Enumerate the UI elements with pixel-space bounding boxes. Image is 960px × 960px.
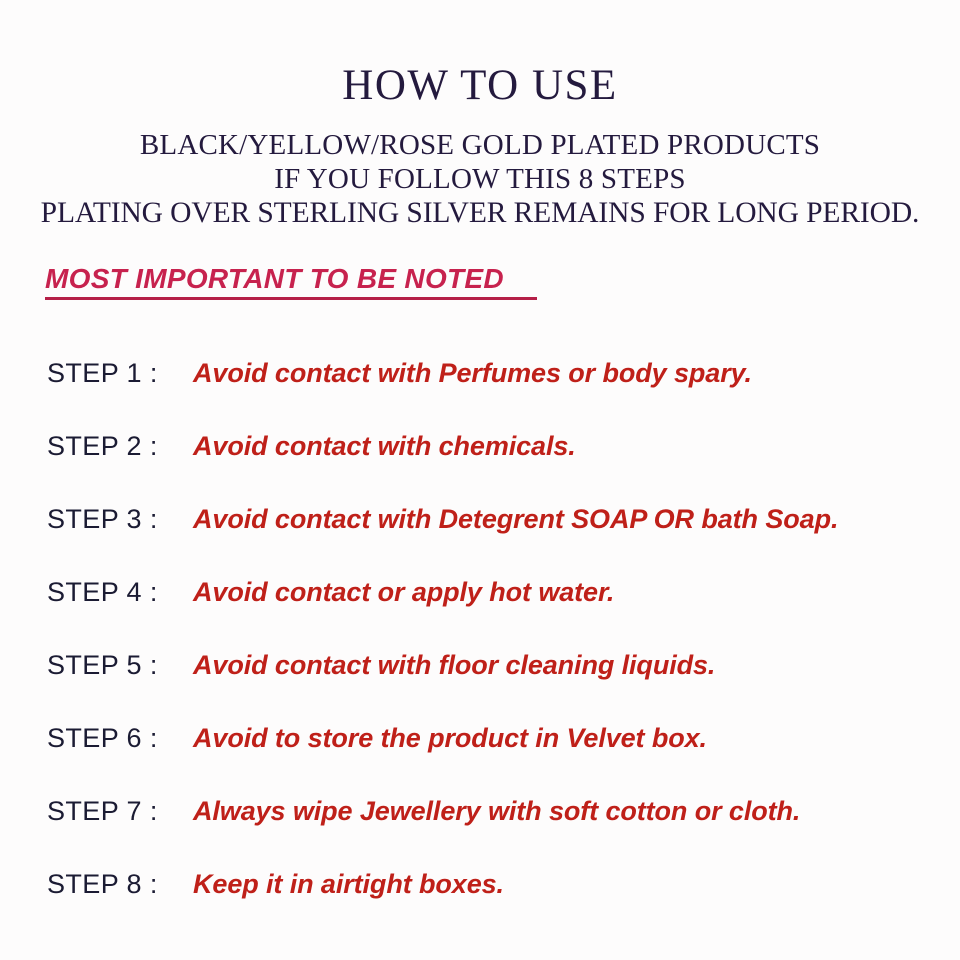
step-label: STEP 8 : — [47, 848, 158, 921]
step-text: Avoid contact with floor cleaning liquid… — [193, 629, 715, 702]
step-label: STEP 4 : — [47, 556, 158, 629]
page-title: HOW TO USE — [0, 62, 960, 110]
step-row: STEP 5 : Avoid contact with floor cleani… — [0, 629, 960, 702]
subtitle-line-3: PLATING OVER STERLING SILVER REMAINS FOR… — [0, 196, 960, 230]
step-text: Avoid contact with chemicals. — [193, 410, 576, 483]
notice-heading-underline — [45, 297, 537, 300]
step-row: STEP 8 : Keep it in airtight boxes. — [0, 848, 960, 921]
step-text: Always wipe Jewellery with soft cotton o… — [193, 775, 800, 848]
step-row: STEP 4 : Avoid contact or apply hot wate… — [0, 556, 960, 629]
steps-list: STEP 1 : Avoid contact with Perfumes or … — [0, 337, 960, 921]
instruction-poster: HOW TO USE BLACK/YELLOW/ROSE GOLD PLATED… — [0, 0, 960, 960]
step-label: STEP 6 : — [47, 702, 158, 775]
step-label: STEP 5 : — [47, 629, 158, 702]
step-row: STEP 7 : Always wipe Jewellery with soft… — [0, 775, 960, 848]
step-label: STEP 3 : — [47, 483, 158, 556]
step-row: STEP 3 : Avoid contact with Detegrent SO… — [0, 483, 960, 556]
step-row: STEP 1 : Avoid contact with Perfumes or … — [0, 337, 960, 410]
step-text: Avoid contact or apply hot water. — [193, 556, 614, 629]
subtitle-line-2: IF YOU FOLLOW THIS 8 STEPS — [0, 162, 960, 196]
subtitle-block: BLACK/YELLOW/ROSE GOLD PLATED PRODUCTS I… — [0, 128, 960, 230]
step-text: Avoid to store the product in Velvet box… — [193, 702, 707, 775]
step-row: STEP 2 : Avoid contact with chemicals. — [0, 410, 960, 483]
step-row: STEP 6 : Avoid to store the product in V… — [0, 702, 960, 775]
step-label: STEP 7 : — [47, 775, 158, 848]
step-text: Avoid contact with Perfumes or body spar… — [193, 337, 752, 410]
poster-header: HOW TO USE — [0, 62, 960, 110]
subtitle-line-1: BLACK/YELLOW/ROSE GOLD PLATED PRODUCTS — [0, 128, 960, 162]
step-label: STEP 2 : — [47, 410, 158, 483]
step-text: Keep it in airtight boxes. — [193, 848, 504, 921]
step-text: Avoid contact with Detegrent SOAP OR bat… — [193, 483, 838, 556]
step-label: STEP 1 : — [47, 337, 158, 410]
notice-heading: MOST IMPORTANT TO BE NOTED — [45, 263, 504, 295]
